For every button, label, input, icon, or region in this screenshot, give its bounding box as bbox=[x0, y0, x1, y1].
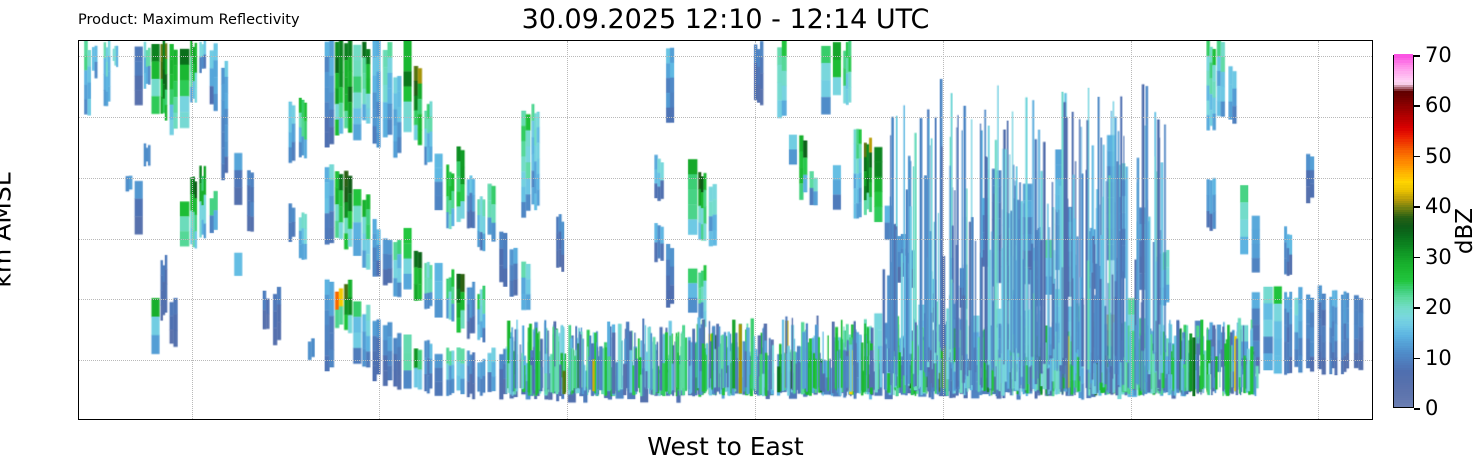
colorbar-tick-label: 40 bbox=[1425, 194, 1452, 218]
colorbar-tick-label: 0 bbox=[1425, 396, 1438, 420]
x-tick bbox=[755, 419, 757, 420]
colorbar: 010203040506070 bbox=[1393, 55, 1414, 408]
colorbar-tick-label: 70 bbox=[1425, 43, 1452, 67]
plot-area: 024681012 bbox=[78, 40, 1373, 420]
colorbar-tick-label: 20 bbox=[1425, 295, 1452, 319]
colorbar-tick-label: 50 bbox=[1425, 144, 1452, 168]
y-tick bbox=[78, 360, 79, 362]
radar-cross-section-figure: 30.09.2025 12:10 - 12:14 UTC Product: Ma… bbox=[0, 0, 1482, 470]
x-tick bbox=[567, 419, 569, 420]
colorbar-tick bbox=[1414, 105, 1420, 107]
colorbar-gradient bbox=[1393, 55, 1414, 408]
colorbar-tick bbox=[1414, 257, 1420, 259]
x-tick bbox=[1318, 419, 1320, 420]
y-tick bbox=[78, 299, 79, 301]
colorbar-tick-label: 10 bbox=[1425, 346, 1452, 370]
colorbar-tick bbox=[1414, 408, 1420, 410]
colorbar-tick-label: 30 bbox=[1425, 245, 1452, 269]
x-axis-label: West to East bbox=[78, 432, 1373, 461]
colorbar-tick bbox=[1414, 307, 1420, 309]
x-tick bbox=[192, 419, 194, 420]
colorbar-band bbox=[1394, 54, 1413, 58]
colorbar-tick bbox=[1414, 156, 1420, 158]
y-tick bbox=[78, 117, 79, 119]
colorbar-label: dBZ bbox=[1452, 208, 1478, 254]
product-label: Product: Maximum Reflectivity bbox=[78, 12, 300, 28]
y-tick bbox=[78, 56, 79, 58]
y-tick bbox=[78, 178, 79, 180]
x-tick bbox=[379, 419, 381, 420]
y-axis-label: km AMSL bbox=[0, 172, 17, 287]
x-tick bbox=[1131, 419, 1133, 420]
colorbar-tick bbox=[1414, 358, 1420, 360]
reflectivity-heatmap-canvas bbox=[79, 41, 1372, 419]
colorbar-tick bbox=[1414, 206, 1420, 208]
y-tick bbox=[78, 239, 79, 241]
x-tick bbox=[943, 419, 945, 420]
colorbar-tick-label: 60 bbox=[1425, 93, 1452, 117]
colorbar-tick bbox=[1414, 55, 1420, 57]
